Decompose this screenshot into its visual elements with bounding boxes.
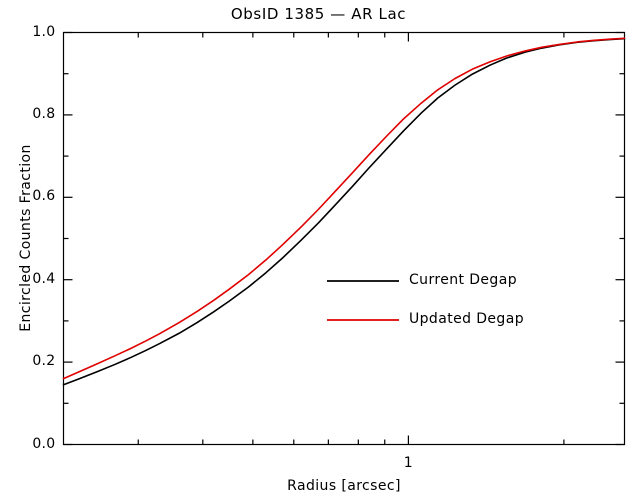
chart-figure: ObsID 1385 — AR Lac Encircled Counts Fra…	[0, 0, 637, 504]
plot-area	[0, 0, 637, 504]
y-tick-label: 0.4	[10, 271, 56, 287]
legend-label: Current Degap	[409, 272, 517, 288]
data-series	[64, 38, 625, 384]
axis-frame	[64, 33, 625, 445]
legend-label: Updated Degap	[409, 311, 524, 327]
y-tick-label: 0.8	[10, 106, 56, 122]
axis-ticks	[64, 33, 625, 445]
legend-swatches	[327, 281, 399, 320]
y-tick-label: 1.0	[10, 24, 56, 40]
y-tick-label: 0.2	[10, 353, 56, 369]
x-tick-label: 1	[393, 455, 423, 471]
y-tick-label: 0.0	[10, 436, 56, 452]
y-tick-label: 0.6	[10, 188, 56, 204]
